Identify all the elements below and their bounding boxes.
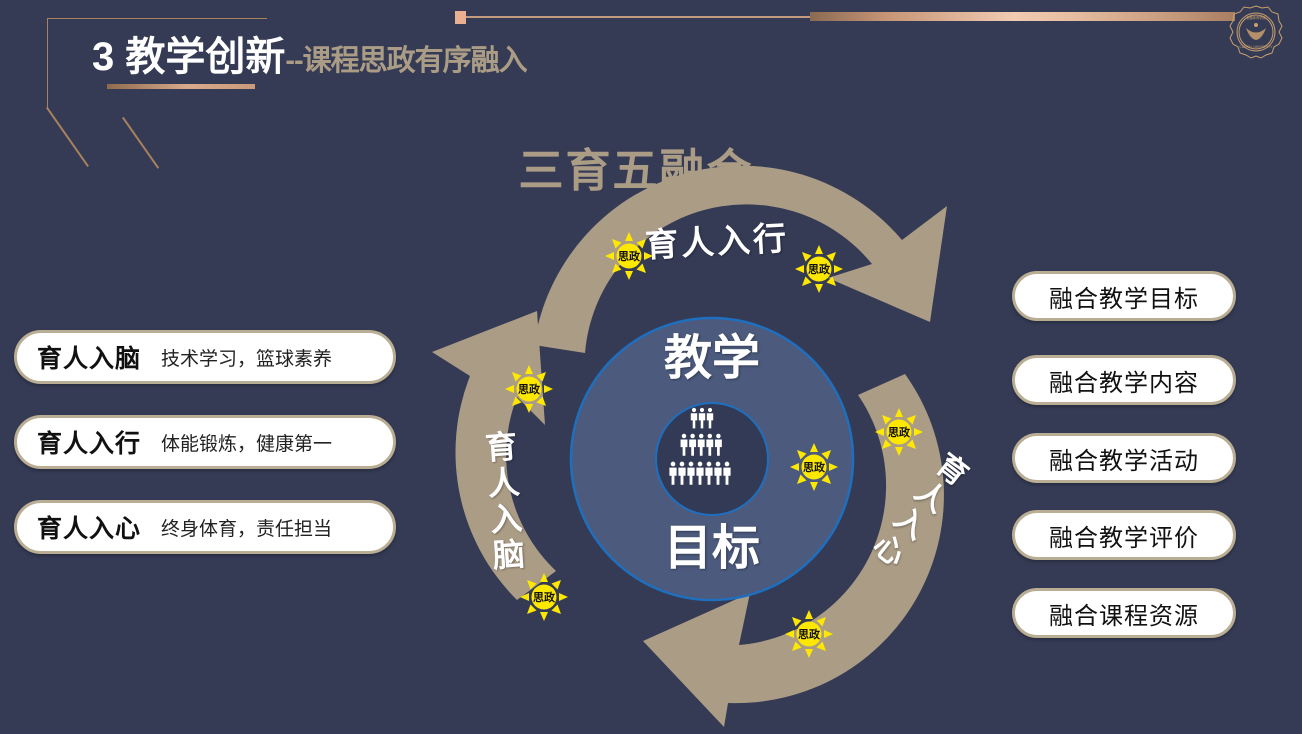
sizheng-sun-badge: 思政 [505,365,553,413]
arc-label-top: 育人入行 [644,211,790,266]
sizheng-sun-badge: 思政 [785,610,833,658]
left-pill-key: 育人入心 [37,509,141,545]
left-pill-value: 终身体育，责任担当 [161,514,332,541]
left-pill-item[interactable]: 育人入脑技术学习，篮球素养 [14,330,396,384]
left-pill-value: 技术学习，篮球素养 [161,344,332,371]
left-pill-key: 育人入脑 [37,339,141,375]
right-pill-item[interactable]: 融合教学目标 [1012,271,1236,321]
right-pill-item[interactable]: 融合课程资源 [1012,588,1236,638]
center-label-bottom: 目标 [612,508,812,578]
sizheng-badge-label: 思政 [520,573,568,621]
left-pill-key: 育人入行 [37,424,141,460]
left-pill-item[interactable]: 育人入行体能锻炼，健康第一 [14,415,396,469]
sizheng-sun-badge: 思政 [605,232,653,280]
center-label-top: 教学 [612,318,812,388]
sizheng-badge-label: 思政 [790,443,838,491]
sizheng-badge-label: 思政 [505,365,553,413]
sizheng-badge-label: 思政 [875,408,923,456]
slide-root: 3 教学创新--课程思政有序融入 首都体育学院 CAPITAL UNIVERSI… [0,0,1302,734]
sizheng-sun-badge: 思政 [520,573,568,621]
sizheng-sun-badge: 思政 [790,443,838,491]
right-pill-item[interactable]: 融合教学内容 [1012,355,1236,405]
sizheng-badge-label: 思政 [795,245,843,293]
left-pill-value: 体能锻炼，健康第一 [161,429,332,456]
sizheng-badge-label: 思政 [605,232,653,280]
sizheng-sun-badge: 思政 [795,245,843,293]
right-pill-item[interactable]: 融合教学活动 [1012,433,1236,483]
sizheng-sun-badge: 思政 [875,408,923,456]
sizheng-badge-label: 思政 [785,610,833,658]
right-pill-item[interactable]: 融合教学评价 [1012,510,1236,560]
left-pill-item[interactable]: 育人入心终身体育，责任担当 [14,500,396,554]
